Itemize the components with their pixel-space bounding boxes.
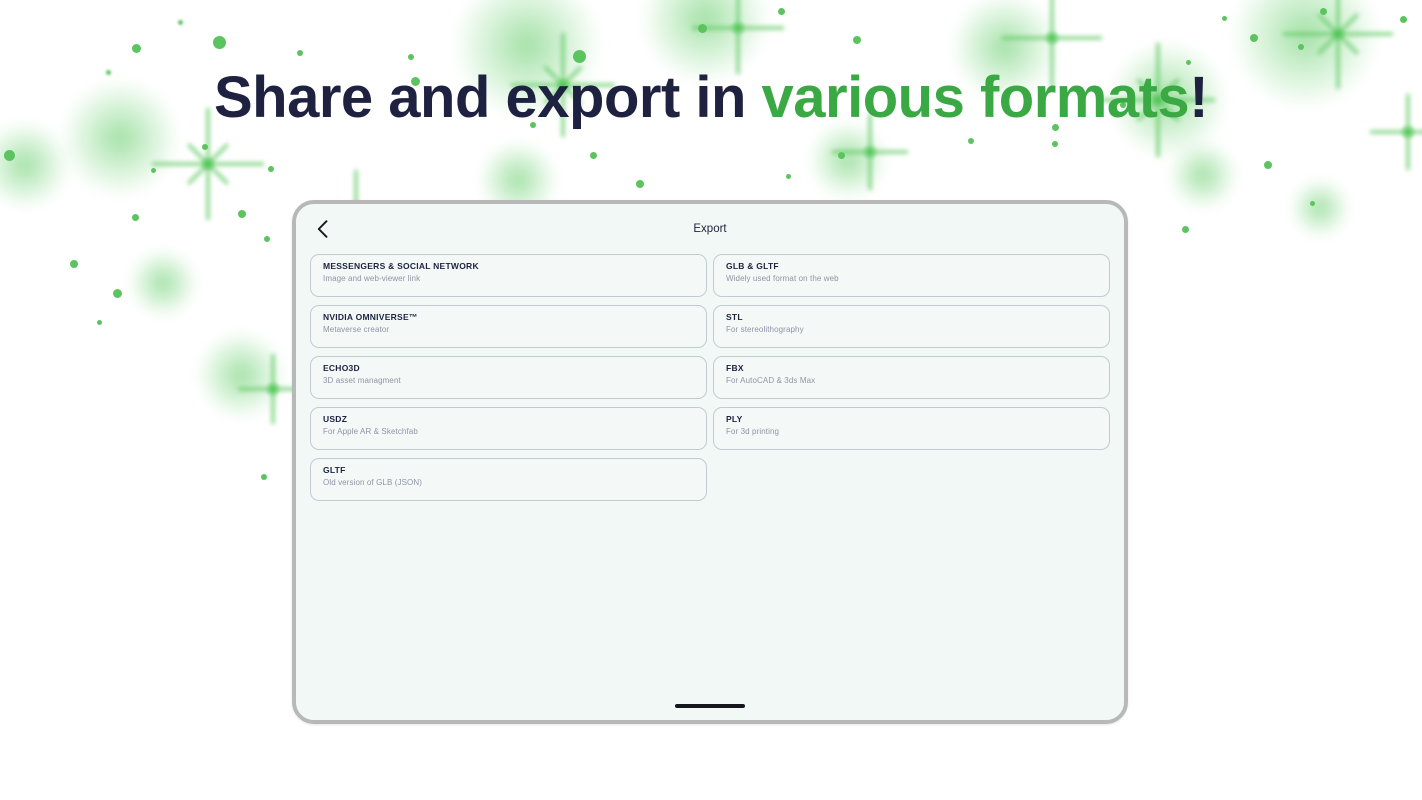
tablet-device-frame: Export MESSENGERS & SOCIAL NETWORK Image…	[292, 200, 1128, 724]
sparkle-dot	[408, 54, 414, 60]
sparkle-dot	[132, 44, 141, 53]
export-options-grid: MESSENGERS & SOCIAL NETWORK Image and we…	[296, 254, 1124, 692]
home-indicator-area	[296, 692, 1124, 720]
sparkle-dot	[70, 260, 78, 268]
page-root: Share and export in various formats! Exp…	[0, 0, 1422, 800]
device-screen: Export MESSENGERS & SOCIAL NETWORK Image…	[296, 204, 1124, 720]
page-title: Share and export in various formats!	[0, 68, 1422, 129]
export-option-title: USDZ	[323, 415, 694, 424]
sparkle-dot	[1250, 34, 1258, 42]
sparkle-dot	[264, 236, 270, 242]
back-button[interactable]	[309, 216, 335, 242]
sparkle-dot	[1222, 16, 1227, 21]
export-option-title: STL	[726, 313, 1097, 322]
export-option-glb-gltf[interactable]: GLB & GLTF Widely used format on the web	[713, 254, 1110, 297]
sparkle-dot	[1320, 8, 1327, 15]
export-option-messengers-social-network[interactable]: MESSENGERS & SOCIAL NETWORK Image and we…	[310, 254, 707, 297]
export-option-subtitle: For AutoCAD & 3ds Max	[726, 377, 1097, 386]
page-title-dark-part: Share and export in	[214, 65, 762, 130]
screen-title: Export	[296, 223, 1124, 235]
screen-topbar: Export	[296, 204, 1124, 254]
export-option-title: NVIDIA OMNIVERSE™	[323, 313, 694, 322]
sparkle-dot	[213, 36, 226, 49]
sparkle-dot	[590, 152, 597, 159]
export-options-right-column: GLB & GLTF Widely used format on the web…	[713, 254, 1110, 450]
export-option-fbx[interactable]: FBX For AutoCAD & 3ds Max	[713, 356, 1110, 399]
page-title-green-part: various formats	[762, 65, 1190, 130]
export-option-title: FBX	[726, 364, 1097, 373]
sparkle-dot	[1264, 161, 1272, 169]
sparkle-dot	[1298, 44, 1304, 50]
export-option-title: GLTF	[323, 466, 694, 475]
glow-blob	[1290, 178, 1350, 238]
export-option-subtitle: Widely used format on the web	[726, 275, 1097, 284]
export-option-gltf[interactable]: GLTF Old version of GLB (JSON)	[310, 458, 707, 501]
sparkle-dot	[4, 150, 15, 161]
glow-blob	[808, 120, 888, 200]
sparkle-dot	[838, 152, 845, 159]
sparkle-dot	[113, 289, 122, 298]
glow-blob	[128, 248, 198, 318]
export-options-left-column: MESSENGERS & SOCIAL NETWORK Image and we…	[310, 254, 707, 501]
page-title-exclaim: !	[1189, 65, 1208, 130]
sparkle-dot	[97, 320, 102, 325]
export-option-nvidia-omniverse[interactable]: NVIDIA OMNIVERSE™ Metaverse creator	[310, 305, 707, 348]
export-option-subtitle: Image and web-viewer link	[323, 275, 694, 284]
chevron-left-icon	[317, 220, 328, 238]
export-option-subtitle: Metaverse creator	[323, 326, 694, 335]
sparkle-dot	[1310, 201, 1315, 206]
sparkle-dot	[178, 20, 183, 25]
sparkle-dot	[268, 166, 274, 172]
export-option-subtitle: For Apple AR & Sketchfab	[323, 428, 694, 437]
sparkle-dot	[778, 8, 785, 15]
sparkle-dot	[297, 50, 303, 56]
sparkle-dot	[786, 174, 791, 179]
export-option-echo3d[interactable]: ECHO3D 3D asset managment	[310, 356, 707, 399]
export-option-title: MESSENGERS & SOCIAL NETWORK	[323, 262, 694, 271]
glow-blob	[0, 120, 70, 210]
glow-blob	[1168, 140, 1238, 210]
export-option-title: ECHO3D	[323, 364, 694, 373]
sparkle-dot	[202, 144, 208, 150]
sparkle-dot	[853, 36, 861, 44]
sparkle-dot	[1182, 226, 1189, 233]
sparkle-dot	[151, 168, 156, 173]
export-option-title: GLB & GLTF	[726, 262, 1097, 271]
sparkle-dot	[238, 210, 246, 218]
sparkle-dot	[1400, 16, 1407, 23]
export-option-subtitle: For 3d printing	[726, 428, 1097, 437]
glow-blob	[196, 330, 286, 420]
export-option-subtitle: Old version of GLB (JSON)	[323, 479, 694, 488]
export-option-usdz[interactable]: USDZ For Apple AR & Sketchfab	[310, 407, 707, 450]
export-option-subtitle: For stereolithography	[726, 326, 1097, 335]
export-option-subtitle: 3D asset managment	[323, 377, 694, 386]
export-option-stl[interactable]: STL For stereolithography	[713, 305, 1110, 348]
sparkle-dot	[261, 474, 267, 480]
export-option-title: PLY	[726, 415, 1097, 424]
sparkle-dot	[1052, 141, 1058, 147]
sparkle-dot	[698, 24, 707, 33]
sparkle-dot	[636, 180, 644, 188]
sparkle-dot	[132, 214, 139, 221]
sparkle-dot	[968, 138, 974, 144]
sparkle-dot	[573, 50, 586, 63]
export-option-ply[interactable]: PLY For 3d printing	[713, 407, 1110, 450]
home-indicator-bar[interactable]	[675, 704, 745, 708]
